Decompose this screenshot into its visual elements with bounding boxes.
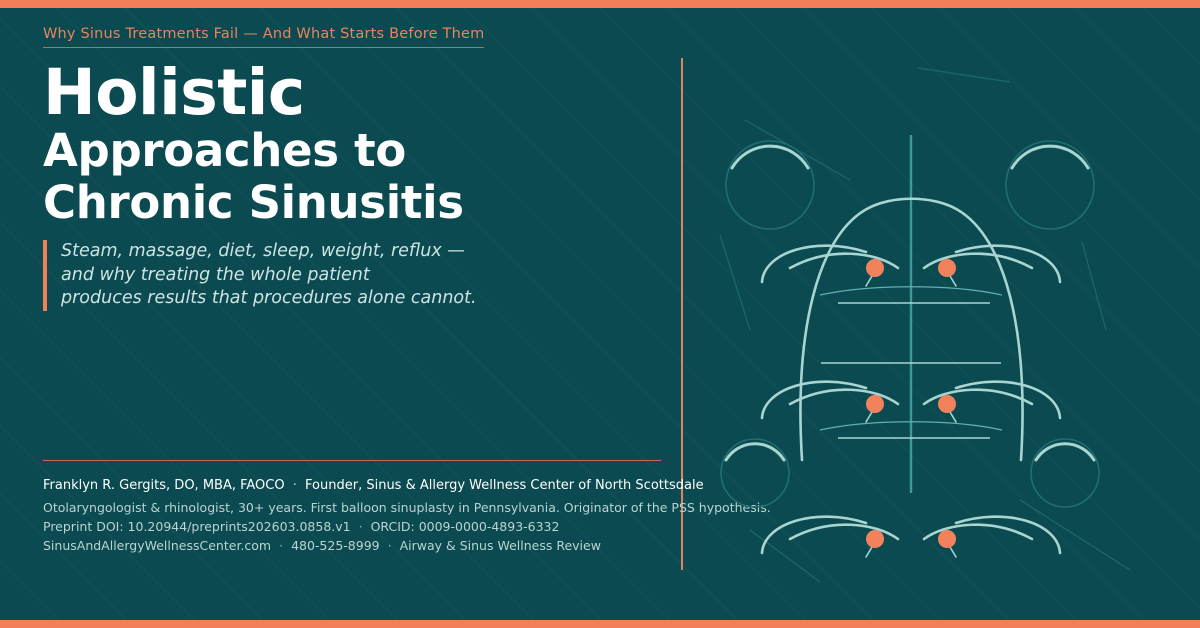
phone-label[interactable]: 480-525-8999	[291, 538, 380, 553]
identifier-separator: ·	[355, 519, 367, 534]
balloon-stem	[950, 547, 956, 557]
corner-accent-circle-bottom-right	[1031, 439, 1099, 507]
balloon-bulb	[866, 530, 884, 548]
balloon-bulb	[866, 259, 884, 277]
title-line-secondary: Approaches to	[43, 125, 643, 177]
eyebrow-kicker: Why Sinus Treatments Fail — And What Sta…	[43, 26, 484, 48]
byline-row: Franklyn R. Gergits, DO, MBA, FAOCO · Fo…	[43, 478, 763, 493]
publication-label: Airway & Sinus Wellness Review	[400, 538, 601, 553]
sinus-arc-upper-right-outer	[956, 246, 1060, 282]
ring-outline	[1031, 439, 1099, 507]
balloon-marker-lower-left	[866, 530, 884, 557]
corner-accent-circle-top-right	[1006, 141, 1094, 229]
sinus-diagram-svg	[690, 30, 1190, 590]
balloon-stem	[950, 276, 956, 286]
ring-outline	[726, 141, 814, 229]
balloon-bulb	[938, 259, 956, 277]
sinus-arc-middle-right-outer	[956, 382, 1060, 418]
balloon-stem	[950, 412, 956, 422]
balloon-stem	[866, 547, 872, 557]
subtitle-block: Steam, massage, diet, sleep, weight, ref…	[43, 240, 531, 311]
left-content-column: Why Sinus Treatments Fail — And What Sta…	[43, 8, 663, 620]
balloon-marker-upper-left	[866, 259, 884, 286]
orcid-label: ORCID: 0009-0000-4893-6332	[371, 519, 560, 534]
balloon-marker-lower-right	[938, 530, 956, 557]
balloon-marker-middle-right	[938, 395, 956, 422]
balloon-bulb	[866, 395, 884, 413]
balloon-marker-middle-left	[866, 395, 884, 422]
footer-divider-rule	[43, 460, 661, 461]
sinus-arc-lower-left-outer	[762, 517, 866, 553]
doi-label: Preprint DOI: 10.20944/preprints202603.0…	[43, 519, 351, 534]
subtitle-line-3: produces results that procedures alone c…	[61, 287, 531, 311]
top-accent-bar	[0, 0, 1200, 8]
author-credentials: Otolaryngologist & rhinologist, 30+ year…	[43, 500, 763, 515]
poster-canvas: Why Sinus Treatments Fail — And What Sta…	[0, 0, 1200, 628]
title-line-primary: Holistic	[43, 61, 643, 125]
author-name: Franklyn R. Gergits, DO, MBA, FAOCO	[43, 478, 285, 493]
ring-outline	[1006, 141, 1094, 229]
balloon-bulb	[938, 395, 956, 413]
balloon-marker-upper-right	[938, 259, 956, 286]
contact-separator-1: ·	[275, 538, 287, 553]
page-title: Holistic Approaches to Chronic Sinusitis	[43, 61, 643, 230]
sinus-arc-middle-left-outer	[762, 382, 866, 418]
subtitle-line-2: and why treating the whole patient	[61, 264, 531, 288]
bottom-accent-bar	[0, 620, 1200, 628]
sinus-arc-upper-left-outer	[762, 246, 866, 282]
identifier-row: Preprint DOI: 10.20944/preprints202603.0…	[43, 519, 763, 534]
contact-separator-2: ·	[384, 538, 396, 553]
balloon-bulb	[938, 530, 956, 548]
sinus-arc-lower-right-outer	[956, 517, 1060, 553]
byline-separator: ·	[289, 478, 301, 493]
balloon-stem	[866, 276, 872, 286]
author-affiliation: Founder, Sinus & Allergy Wellness Center…	[305, 478, 704, 493]
footer-credits: Franklyn R. Gergits, DO, MBA, FAOCO · Fo…	[43, 478, 763, 557]
sinus-anatomy-illustration	[690, 30, 1190, 590]
balloon-stem	[866, 412, 872, 422]
ring-outline	[721, 439, 789, 507]
website-label[interactable]: SinusAndAllergyWellnessCenter.com	[43, 538, 271, 553]
corner-accent-circle-top-left	[726, 141, 814, 229]
corner-accent-circle-bottom-left	[721, 439, 789, 507]
subtitle-line-1: Steam, massage, diet, sleep, weight, ref…	[61, 240, 531, 264]
title-line-tertiary: Chronic Sinusitis	[43, 177, 643, 229]
contact-row: SinusAndAllergyWellnessCenter.com · 480-…	[43, 538, 763, 553]
